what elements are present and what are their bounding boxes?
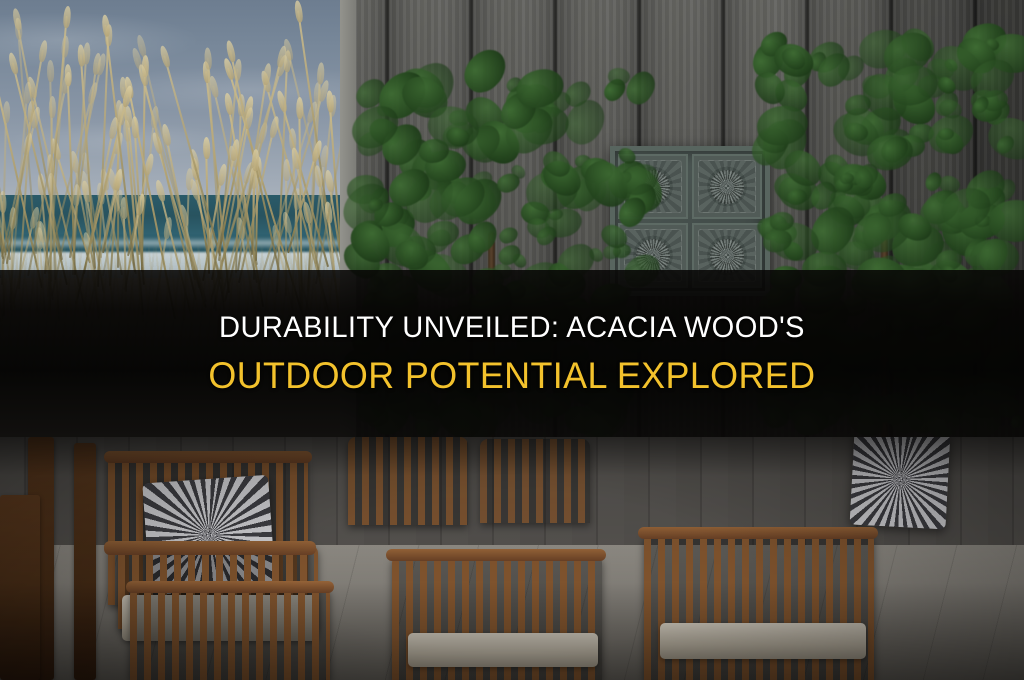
chair-rail-far-left [126,581,334,593]
chair-back-slats-far-left [130,587,330,680]
chair-top-rail [104,451,312,463]
title-line-2: OUTDOOR POTENTIAL EXPLORED [208,355,815,397]
screenshot-stage: DURABILITY UNVEILED: ACACIA WOOD'S OUTDO… [0,0,1024,680]
title-line-1: DURABILITY UNVEILED: ACACIA WOOD'S [219,311,805,345]
chair-top-rail-center [386,549,606,561]
seat-cushion-right [660,623,866,659]
plant-leaf-cluster [937,128,953,141]
wood-panel-far-left [0,495,40,680]
bottom-scene-patio-dining-set: WOODRIO [0,437,1024,680]
title-banner-overlay: DURABILITY UNVEILED: ACACIA WOOD'S OUTDO… [0,270,1024,438]
chair-top-rail-right [638,527,878,539]
plant-leaf-cluster [770,212,794,231]
armchair-back-row-1 [348,437,468,525]
seat-cushion-center [408,633,598,667]
tin-tile [692,154,762,219]
wood-post-left-2 [74,443,96,680]
chair-arm-rail [104,541,316,555]
plant-leaf-cluster [497,225,519,245]
armchair-back-row-2 [480,439,590,523]
patterned-throw-pillow-right [850,437,951,529]
